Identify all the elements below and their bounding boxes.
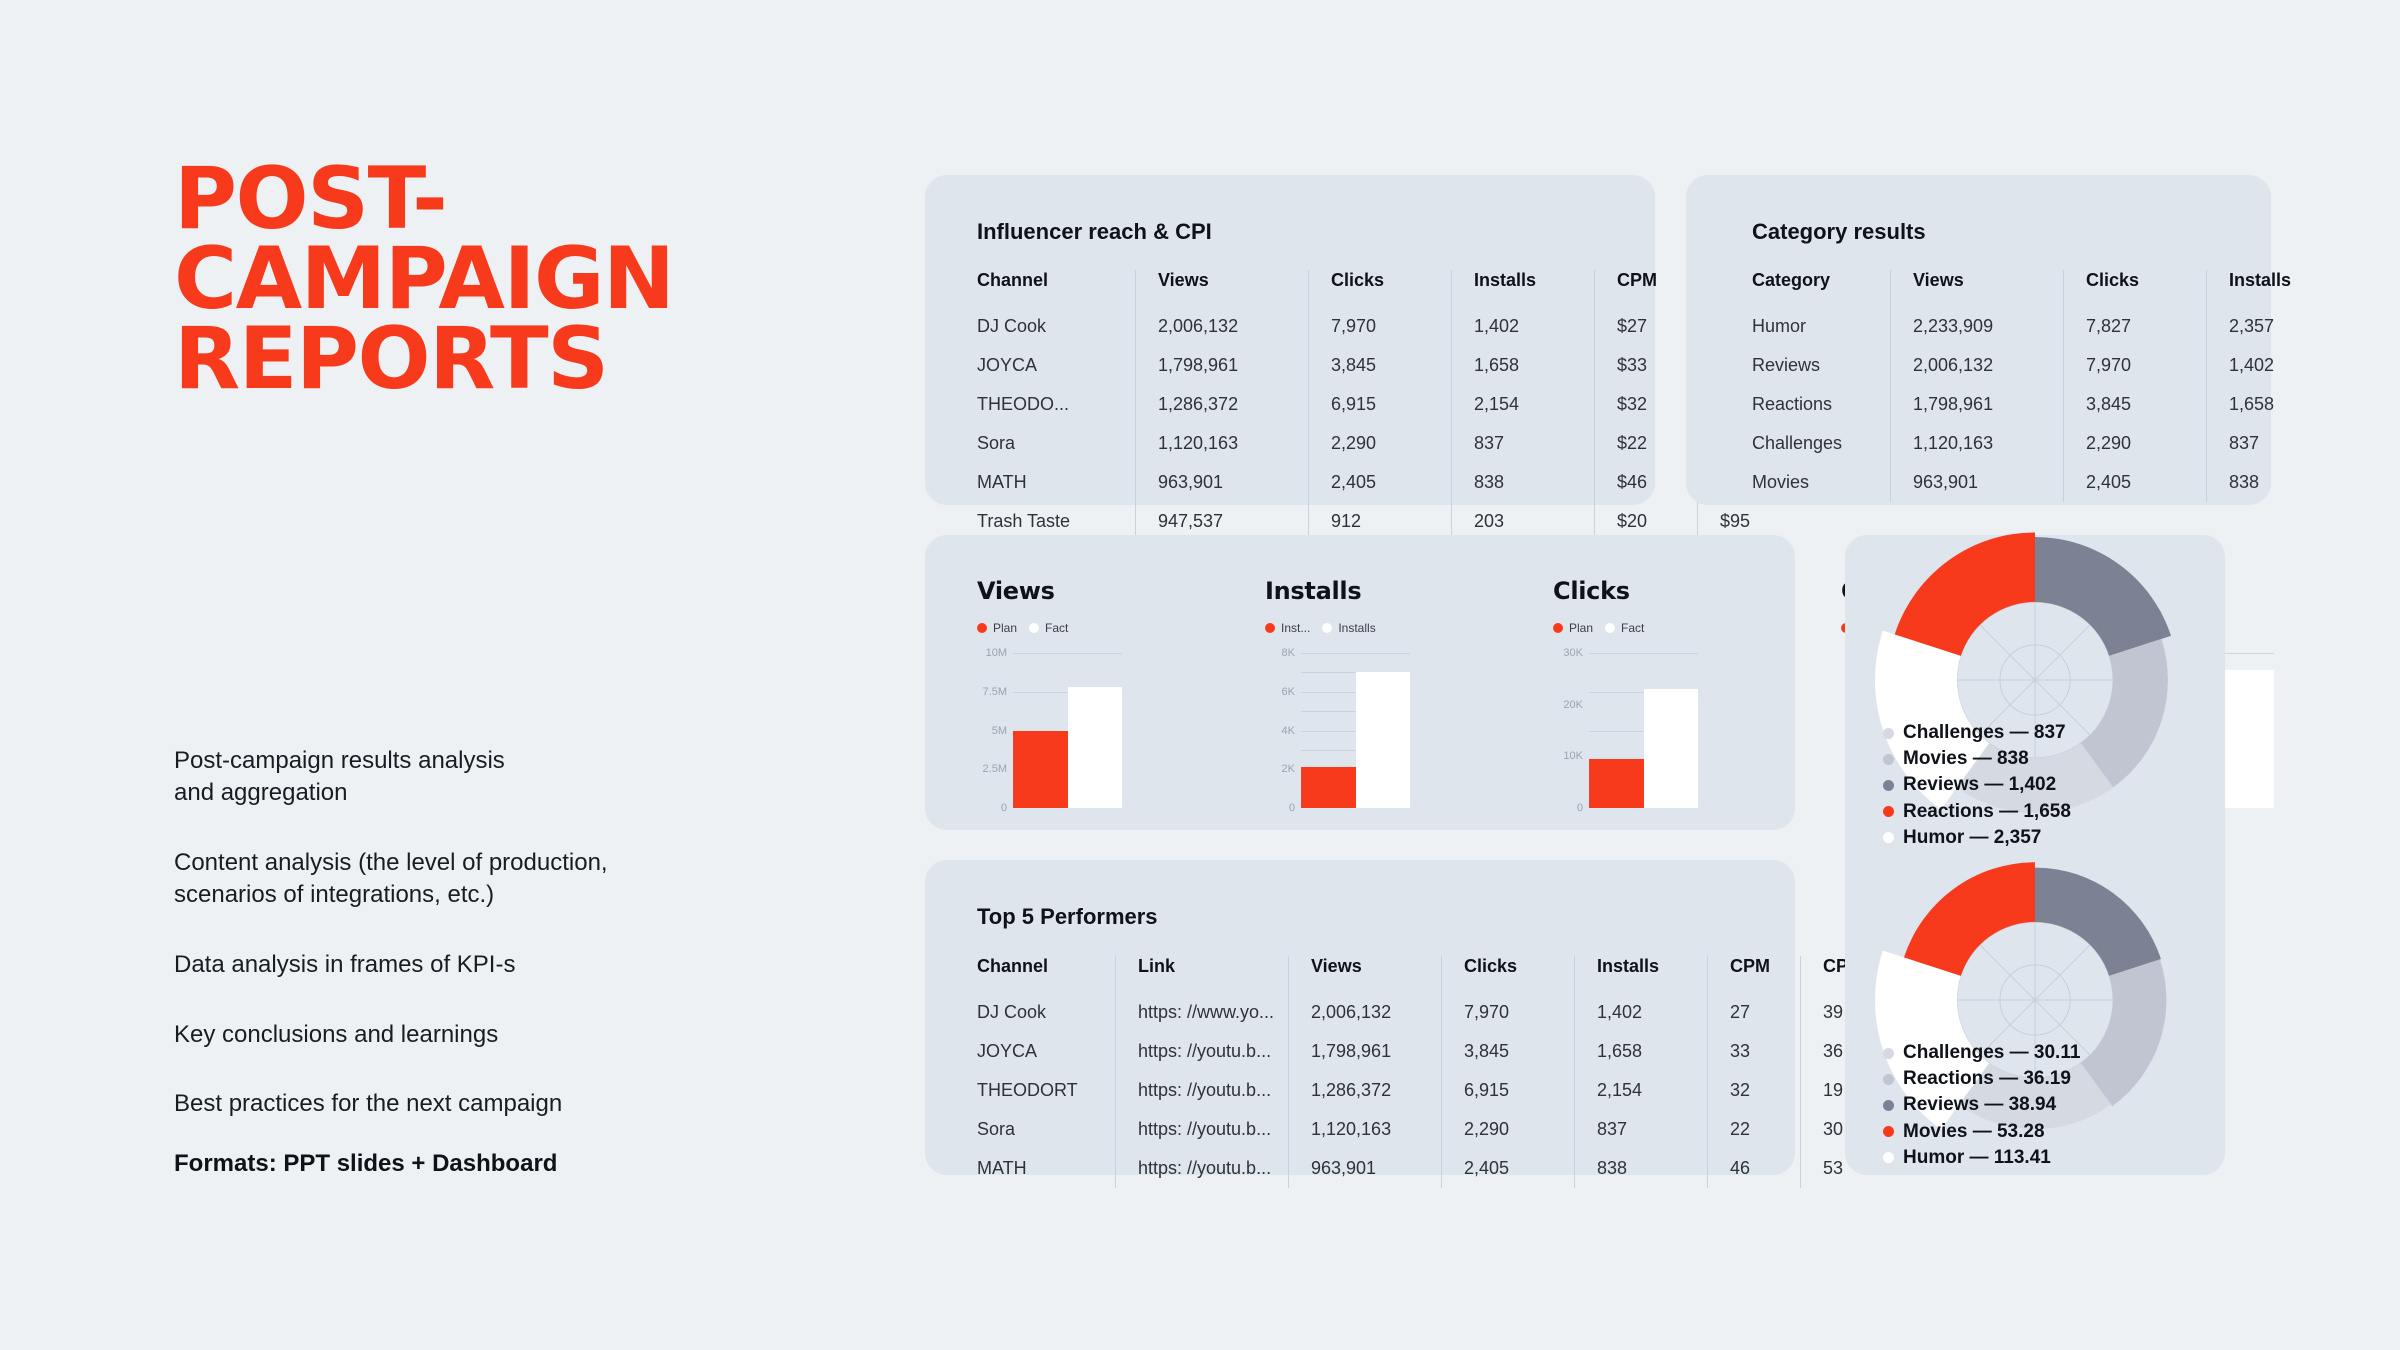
kpi-chart-clicks: ClicksPlanFact010K20K30K [1553,577,1698,808]
table-row: DJ Cook2,006,1327,9701,402$27$39 [977,307,1780,346]
y-tick-label: 10M [986,647,1007,659]
table-cell: $32 [1595,385,1698,424]
legend-dot-plan-icon [1265,623,1275,633]
table-cell: $27 [1595,307,1698,346]
column-header: Installs [2207,270,2320,307]
chart-bars [1013,653,1122,808]
legend-label: Installs [1338,621,1375,635]
legend-label: Plan [993,621,1017,635]
table-cell: 1,798,961 [1136,346,1309,385]
table-row: Reactions1,798,9613,8451,658 [1752,385,2319,424]
table-cell: 7,970 [1309,307,1452,346]
table-cell: 1,798,961 [1891,385,2064,424]
y-axis: 02K4K6K8K [1265,653,1299,808]
category-table: CategoryViewsClicksInstallsHumor2,233,90… [1752,270,2319,502]
chart-plot: 02K4K6K8K [1265,653,1410,808]
y-tick-label: 4K [1282,725,1295,737]
legend-item: Movies — 53.28 [1883,1119,2080,1145]
bar-plan [1589,759,1644,808]
chart-legend: Inst...Installs [1265,621,1410,635]
donut-legend: Challenges — 30.11Reactions — 36.19Revie… [1883,1040,2080,1171]
legend-label: Movies — 53.28 [1903,1119,2045,1145]
top5-table: ChannelLinkViewsClicksInstallsCPMCPIDJ C… [977,956,1873,1188]
y-tick-label: 20K [1563,699,1583,711]
y-tick-label: 0 [1001,802,1007,814]
table-row: Movies963,9012,405838 [1752,463,2319,502]
legend-item: Reactions — 1,658 [1883,799,2071,825]
page-title: POST- CAMPAIGN REPORTS [174,160,894,400]
table-cell: 3,845 [1442,1032,1575,1071]
bar-fact [1356,672,1411,808]
table-cell: 1,286,372 [1289,1071,1442,1110]
table-cell: MATH [977,1149,1116,1188]
table-cell: 2,405 [2064,463,2207,502]
card-donut-charts: Challenges — 837Movies — 838Reviews — 1,… [1845,535,2225,1175]
legend-dot-icon [1883,806,1894,817]
legend-label: Challenges — 30.11 [1903,1040,2080,1066]
influencer-table: ChannelViewsClicksInstallsCPMCPIDJ Cook2… [977,270,1780,541]
table-cell: 6,915 [1309,385,1452,424]
legend-dot-icon [1883,754,1894,765]
table-cell: 46 [1708,1149,1801,1188]
table-cell: 3,845 [1309,346,1452,385]
table-cell: 1,120,163 [1289,1110,1442,1149]
legend-label: Inst... [1281,621,1310,635]
legend-dot-icon [1883,1126,1894,1137]
hero-block: POST- CAMPAIGN REPORTS [174,160,894,400]
y-tick-label: 0 [1289,802,1295,814]
table-cell: https: //youtu.b... [1116,1149,1289,1188]
table-cell: Reviews [1752,346,1891,385]
chart-title: Views [977,577,1122,605]
legend-label: Fact [1621,621,1644,635]
legend-label: Humor — 113.41 [1903,1145,2051,1171]
y-axis: 02.5M5M7.5M10M [977,653,1011,808]
table-cell: 7,827 [2064,307,2207,346]
legend-item: Movies — 838 [1883,746,2071,772]
column-header: Category [1752,270,1891,307]
table-cell: https: //youtu.b... [1116,1110,1289,1149]
table-row: Reviews2,006,1327,9701,402 [1752,346,2319,385]
table-cell: 2,154 [1452,385,1595,424]
legend-dot-icon [1883,780,1894,791]
column-header: CPM [1595,270,1698,307]
legend-item: Fact [1605,621,1644,635]
table-cell: 2,405 [1442,1149,1575,1188]
table-cell: 2,357 [2207,307,2320,346]
table-cell: 3,845 [2064,385,2207,424]
table-row: THEODO...1,286,3726,9152,154$32$19 [977,385,1780,424]
table-cell: 2,290 [1309,424,1452,463]
column-header: Clicks [1309,270,1452,307]
bar-fact [1068,687,1123,808]
column-header: Views [1289,956,1442,993]
table-cell: 1,402 [1452,307,1595,346]
legend-label: Fact [1045,621,1068,635]
title-line-2: CAMPAIGN [174,240,894,320]
table-cell: 838 [1575,1149,1708,1188]
list-item: Content analysis (the level of productio… [174,847,834,911]
table-cell: DJ Cook [977,307,1136,346]
legend-item: Plan [1553,621,1593,635]
table-cell: $46 [1595,463,1698,502]
table-cell: DJ Cook [977,993,1116,1032]
formats-note: Formats: PPT slides + Dashboard [174,1150,557,1178]
table-cell: 1,286,372 [1136,385,1309,424]
legend-item: Humor — 113.41 [1883,1145,2080,1171]
y-tick-label: 6K [1282,686,1295,698]
y-tick-label: 5M [992,725,1007,737]
table-cell: 7,970 [2064,346,2207,385]
table-cell: 32 [1708,1071,1801,1110]
card-influencer-reach: Influencer reach & CPI ChannelViewsClick… [925,175,1655,505]
list-item: Data analysis in frames of KPI-s [174,949,834,981]
table-cell: 837 [1575,1110,1708,1149]
column-header: Installs [1452,270,1595,307]
y-tick-label: 10K [1563,750,1583,762]
legend-dot-icon [1883,1074,1894,1085]
legend-item: Reactions — 36.19 [1883,1066,2080,1092]
legend-label: Plan [1569,621,1593,635]
chart-bars [1589,653,1698,808]
table-cell: 1,120,163 [1136,424,1309,463]
column-header: Clicks [1442,956,1575,993]
table-row: DJ Cookhttps: //www.yo...2,006,1327,9701… [977,993,1873,1032]
column-header: Views [1891,270,2064,307]
legend-dot-fact-icon [1322,623,1332,633]
table-row: MATHhttps: //youtu.b...963,9012,40583846… [977,1149,1873,1188]
y-tick-label: 2K [1282,763,1295,775]
table-cell: 27 [1708,993,1801,1032]
y-tick-label: 8K [1282,647,1295,659]
title-line-3: REPORTS [174,320,894,400]
column-header: Link [1116,956,1289,993]
y-tick-label: 30K [1563,647,1583,659]
table-cell: 2,290 [1442,1110,1575,1149]
table-cell: 838 [2207,463,2320,502]
table-cell: 1,120,163 [1891,424,2064,463]
table-cell: 837 [2207,424,2320,463]
legend-label: Movies — 838 [1903,746,2029,772]
table-row: Sorahttps: //youtu.b...1,120,1632,290837… [977,1110,1873,1149]
legend-label: Challenges — 837 [1903,720,2066,746]
legend-item: Fact [1029,621,1068,635]
slide-root: POST- CAMPAIGN REPORTS Post-campaign res… [0,0,2400,1350]
table-row: THEODORThttps: //youtu.b...1,286,3726,91… [977,1071,1873,1110]
legend-label: Reviews — 1,402 [1903,772,2056,798]
column-header: Clicks [2064,270,2207,307]
table-cell: 2,154 [1575,1071,1708,1110]
bar-fact [1644,689,1699,808]
table-cell: THEODO... [977,385,1136,424]
legend-dot-icon [1883,1152,1894,1163]
table-cell: 837 [1452,424,1595,463]
table-cell: https: //youtu.b... [1116,1032,1289,1071]
legend-item: Reviews — 1,402 [1883,772,2071,798]
table-cell: 7,970 [1442,993,1575,1032]
table-cell: Sora [977,424,1136,463]
table-cell: 963,901 [1289,1149,1442,1188]
bar-plan [1301,767,1356,808]
legend-item: Reviews — 38.94 [1883,1092,2080,1118]
chart-title: Clicks [1553,577,1698,605]
legend-label: Reviews — 38.94 [1903,1092,2056,1118]
table-cell: 1,402 [1575,993,1708,1032]
table-cell: JOYCA [977,1032,1116,1071]
column-header: Views [1136,270,1309,307]
table-row: Humor2,233,9097,8272,357 [1752,307,2319,346]
table-cell: 1,402 [2207,346,2320,385]
list-item: Best practices for the next campaign [174,1088,834,1120]
table-row: Sora1,120,1632,290837$22$30 [977,424,1780,463]
legend-dot-icon [1883,1048,1894,1059]
chart-plot: 02.5M5M7.5M10M [977,653,1122,808]
bullet-list: Post-campaign results analysisand aggreg… [174,745,834,1120]
legend-label: Reactions — 1,658 [1903,799,2071,825]
table-cell: 2,405 [1309,463,1452,502]
table-cell: $22 [1595,424,1698,463]
title-line-1: POST- [174,160,894,240]
list-item: Post-campaign results analysisand aggreg… [174,745,834,809]
table-cell: Movies [1752,463,1891,502]
legend-dot-icon [1883,1100,1894,1111]
legend-dot-plan-icon [1553,623,1563,633]
chart-plot: 010K20K30K [1553,653,1698,808]
legend-dot-plan-icon [977,623,987,633]
table-cell: MATH [977,463,1136,502]
kpi-chart-installs: InstallsInst...Installs02K4K6K8K [1265,577,1410,808]
card-title: Influencer reach & CPI [977,219,1212,245]
table-cell: 2,233,909 [1891,307,2064,346]
kpi-chart-views: ViewsPlanFact02.5M5M7.5M10M [977,577,1122,808]
table-cell: 2,290 [2064,424,2207,463]
table-cell: 963,901 [1136,463,1309,502]
table-cell: 2,006,132 [1289,993,1442,1032]
card-category-results: Category results CategoryViewsClicksInst… [1686,175,2271,505]
legend-dot-icon [1883,728,1894,739]
table-cell: 1,658 [1575,1032,1708,1071]
bar-plan [1013,731,1068,809]
table-cell: Humor [1752,307,1891,346]
legend-dot-fact-icon [1605,623,1615,633]
card-title: Top 5 Performers [977,904,1158,930]
table-row: JOYCA1,798,9613,8451,658$33$36 [977,346,1780,385]
table-row: Challenges1,120,1632,290837 [1752,424,2319,463]
table-cell: 1,658 [1452,346,1595,385]
table-cell: Challenges [1752,424,1891,463]
legend-item: Challenges — 837 [1883,720,2071,746]
table-cell: 6,915 [1442,1071,1575,1110]
legend-item: Inst... [1265,621,1310,635]
column-header: Channel [977,270,1136,307]
table-cell: 1,798,961 [1289,1032,1442,1071]
table-cell: https: //www.yo... [1116,993,1289,1032]
table-cell: 2,006,132 [1136,307,1309,346]
chart-legend: PlanFact [977,621,1122,635]
table-row: MATH963,9012,405838$46$53 [977,463,1780,502]
legend-label: Reactions — 36.19 [1903,1066,2071,1092]
legend-item: Plan [977,621,1017,635]
y-tick-label: 0 [1577,802,1583,814]
table-cell: Reactions [1752,385,1891,424]
card-top5: Top 5 Performers ChannelLinkViewsClicksI… [925,860,1795,1175]
table-cell: 33 [1708,1032,1801,1071]
table-cell: 2,006,132 [1891,346,2064,385]
chart-bars [1301,653,1410,808]
table-cell: 963,901 [1891,463,2064,502]
legend-item: Installs [1322,621,1375,635]
legend-item: Challenges — 30.11 [1883,1040,2080,1066]
table-cell: 838 [1452,463,1595,502]
y-axis: 010K20K30K [1553,653,1587,808]
column-header: Channel [977,956,1116,993]
table-cell: 1,658 [2207,385,2320,424]
table-cell: JOYCA [977,346,1136,385]
column-header: CPM [1708,956,1801,993]
column-header: Installs [1575,956,1708,993]
table-row: JOYCAhttps: //youtu.b...1,798,9613,8451,… [977,1032,1873,1071]
card-kpi-charts: ViewsPlanFact02.5M5M7.5M10MInstallsInst.… [925,535,1795,830]
list-item: Key conclusions and learnings [174,1019,834,1051]
table-cell: Sora [977,1110,1116,1149]
table-cell: $33 [1595,346,1698,385]
chart-title: Installs [1265,577,1410,605]
card-title: Category results [1752,219,1926,245]
bar-fact [2220,670,2275,808]
legend-dot-fact-icon [1029,623,1039,633]
chart-legend: PlanFact [1553,621,1698,635]
y-tick-label: 2.5M [983,763,1007,775]
y-tick-label: 7.5M [983,686,1007,698]
table-cell: 22 [1708,1110,1801,1149]
table-cell: https: //youtu.b... [1116,1071,1289,1110]
table-cell: THEODORT [977,1071,1116,1110]
